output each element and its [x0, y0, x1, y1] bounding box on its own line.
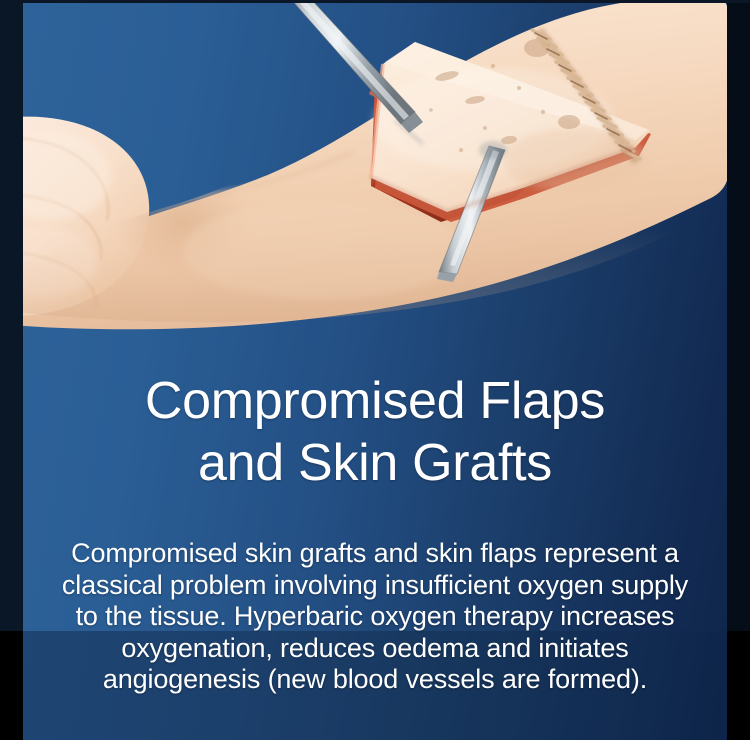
background-gradient-lower [23, 631, 727, 740]
skin-graft-illustration [23, 0, 727, 345]
letterbox-bar-left-upper [0, 0, 23, 631]
slide-root: Compromised Flaps and Skin Grafts Compro… [0, 0, 750, 740]
letterbox-bar-right-lower [727, 631, 750, 740]
letterbox-top-edge [0, 0, 750, 3]
letterbox-bar-right-upper [727, 0, 750, 631]
slide-canvas: Compromised Flaps and Skin Grafts Compro… [23, 0, 727, 740]
letterbox-bar-left-lower [0, 631, 23, 740]
